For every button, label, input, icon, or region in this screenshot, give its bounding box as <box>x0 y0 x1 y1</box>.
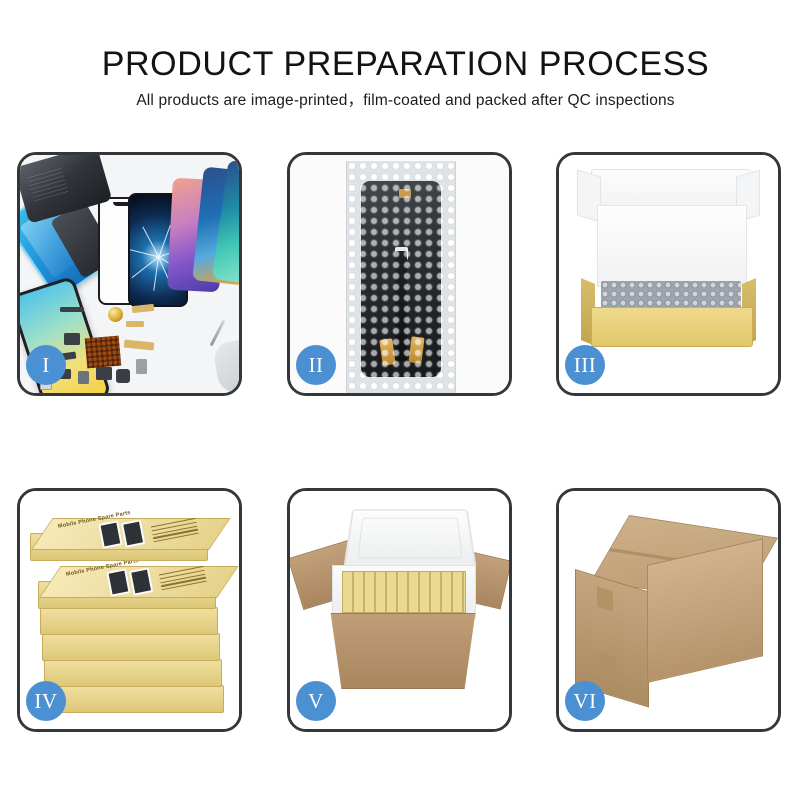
stacked-box-top-labeled: Mobile Phone Spare Parts <box>30 533 208 561</box>
vibration-motor-icon <box>108 307 123 322</box>
product-preparation-infographic: PRODUCT PREPARATION PROCESS All products… <box>0 0 811 811</box>
lcd-screen-icon <box>361 181 441 377</box>
chip-array-icon <box>85 336 121 369</box>
box-spec-lines <box>159 566 208 594</box>
stacked-box-labeled: Mobile Phone Spare Parts <box>38 581 216 609</box>
step-panel-6: VI <box>556 488 781 732</box>
page-title: PRODUCT PREPARATION PROCESS <box>0 44 811 84</box>
page-subtitle: All products are image-printed，film-coat… <box>0 90 811 112</box>
stacked-box <box>42 633 220 661</box>
flex-cable-small-icon <box>126 321 144 327</box>
box-front-panel-icon <box>591 307 753 347</box>
protective-tab-icon <box>399 189 411 198</box>
step-badge-1: I <box>26 345 66 385</box>
camera-module-icon <box>64 333 80 345</box>
stacked-box <box>44 659 222 687</box>
process-steps-grid: I II <box>17 152 794 732</box>
box-top-face: Mobile Phone Spare Parts <box>39 566 239 598</box>
step-badge-3: III <box>565 345 605 385</box>
stacked-box <box>40 607 218 635</box>
battery-connector-icon <box>78 371 89 384</box>
step-panel-5: V <box>287 488 512 732</box>
bubble-wrap-bag-icon <box>346 161 456 393</box>
shipping-carton-icon <box>573 515 769 695</box>
header: PRODUCT PREPARATION PROCESS All products… <box>0 0 811 140</box>
carton-front-panel-icon <box>326 613 480 689</box>
button-module-icon <box>96 367 112 380</box>
box-label-text: Mobile Phone Spare Parts <box>58 510 132 530</box>
charging-port-icon <box>136 359 147 374</box>
box-product-image-left <box>98 520 122 548</box>
step-panel-3: III <box>556 152 781 396</box>
flex-connector-icon <box>124 339 155 350</box>
hand-icon <box>212 338 239 393</box>
box-spec-lines <box>151 518 200 546</box>
step-badge-5: V <box>296 681 336 721</box>
step-panel-2: II <box>287 152 512 396</box>
carton-right-face <box>647 538 763 683</box>
step-panel-1: I <box>17 152 242 396</box>
box-back-panel-icon <box>597 205 747 287</box>
box-product-image-right <box>121 519 145 547</box>
screen-flex-cable-icon <box>395 251 407 361</box>
step-badge-2: II <box>296 345 336 385</box>
yellow-boxes-inside-icon <box>342 571 466 613</box>
sim-tray-icon <box>116 369 130 383</box>
step-panel-4: Mobile Phone Spare Parts Mobile Phone Sp <box>17 488 242 732</box>
flex-cable-icon <box>132 304 155 313</box>
tweezers-icon <box>210 320 225 346</box>
box-product-image-right <box>129 567 153 595</box>
gold-contact-right-icon <box>408 336 424 363</box>
gold-contact-left-icon <box>379 338 395 366</box>
box-product-image-left <box>106 568 130 596</box>
step-badge-6: VI <box>565 681 605 721</box>
earpiece-mesh-icon <box>60 307 84 312</box>
box-top-face: Mobile Phone Spare Parts <box>31 518 231 550</box>
stacked-box <box>46 685 224 713</box>
step-badge-4: IV <box>26 681 66 721</box>
styrofoam-lid-icon <box>343 509 477 569</box>
